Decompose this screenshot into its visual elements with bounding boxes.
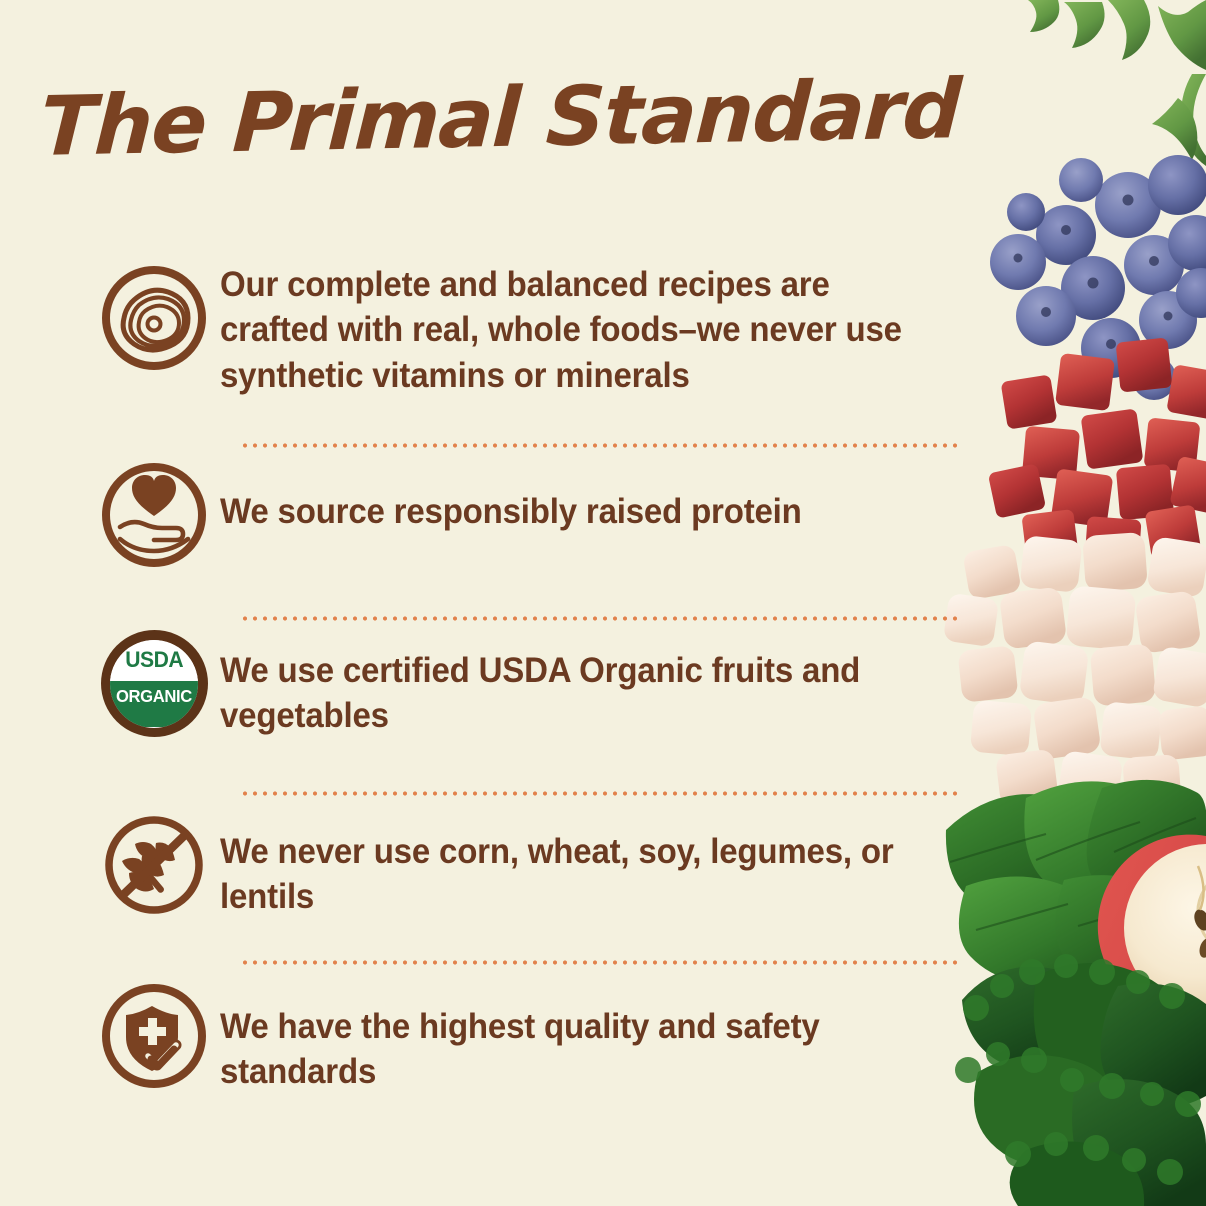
apple-half: [1098, 835, 1206, 1019]
usda-seal-top: USDA: [110, 640, 198, 681]
standard-item: We have the highest quality and safety s…: [88, 966, 968, 1118]
meat-cut-icon-svg: [98, 262, 210, 374]
standard-item: We never use corn, wheat, soy, legumes, …: [88, 797, 968, 959]
standard-text: We never use corn, wheat, soy, legumes, …: [220, 807, 916, 920]
standard-text: We source responsibly raised protein: [220, 459, 916, 534]
parsley-herbs: [1028, 0, 1206, 166]
standard-text: We have the highest quality and safety s…: [220, 978, 916, 1095]
standards-list: Our complete and balanced recipes are cr…: [88, 244, 968, 1118]
usda-label: USDA: [125, 647, 183, 673]
divider: [240, 442, 962, 449]
organic-label: ORGANIC: [116, 686, 192, 707]
no-grain-icon-svg: [98, 809, 210, 921]
standard-text: Our complete and balanced recipes are cr…: [220, 256, 916, 398]
curly-kale: [955, 954, 1206, 1206]
spinach-leaves: [946, 780, 1206, 983]
hand-holding-heart-icon: [88, 459, 220, 591]
no-grain-icon: [88, 807, 220, 941]
usda-seal-bottom: ORGANIC: [110, 681, 198, 728]
standard-item: USDA ORGANIC We use certified USDA Organ…: [88, 622, 968, 790]
usda-seal-inner: USDA ORGANIC: [110, 640, 198, 728]
usda-seal: USDA ORGANIC: [101, 630, 208, 737]
raw-beef-cubes: [988, 337, 1206, 565]
blueberries: [990, 155, 1206, 400]
divider: [240, 790, 962, 797]
standard-item: We source responsibly raised protein: [88, 449, 968, 615]
meat-cut-icon: [88, 256, 220, 394]
raw-chicken-cubes: [943, 532, 1206, 812]
divider: [240, 615, 962, 622]
standard-text: We use certified USDA Organic fruits and…: [220, 630, 916, 739]
page-title: The Primal Standard: [0, 68, 1003, 169]
shield-check-icon-svg: [98, 980, 210, 1092]
divider: [240, 959, 962, 966]
usda-organic-seal-icon: USDA ORGANIC: [88, 630, 220, 762]
hand-holding-heart-icon-svg: [98, 459, 210, 571]
shield-check-icon: [88, 978, 220, 1112]
promo-graphic: The Primal Standard Our complete and bal…: [0, 0, 1206, 1206]
standard-item: Our complete and balanced recipes are cr…: [88, 244, 968, 442]
